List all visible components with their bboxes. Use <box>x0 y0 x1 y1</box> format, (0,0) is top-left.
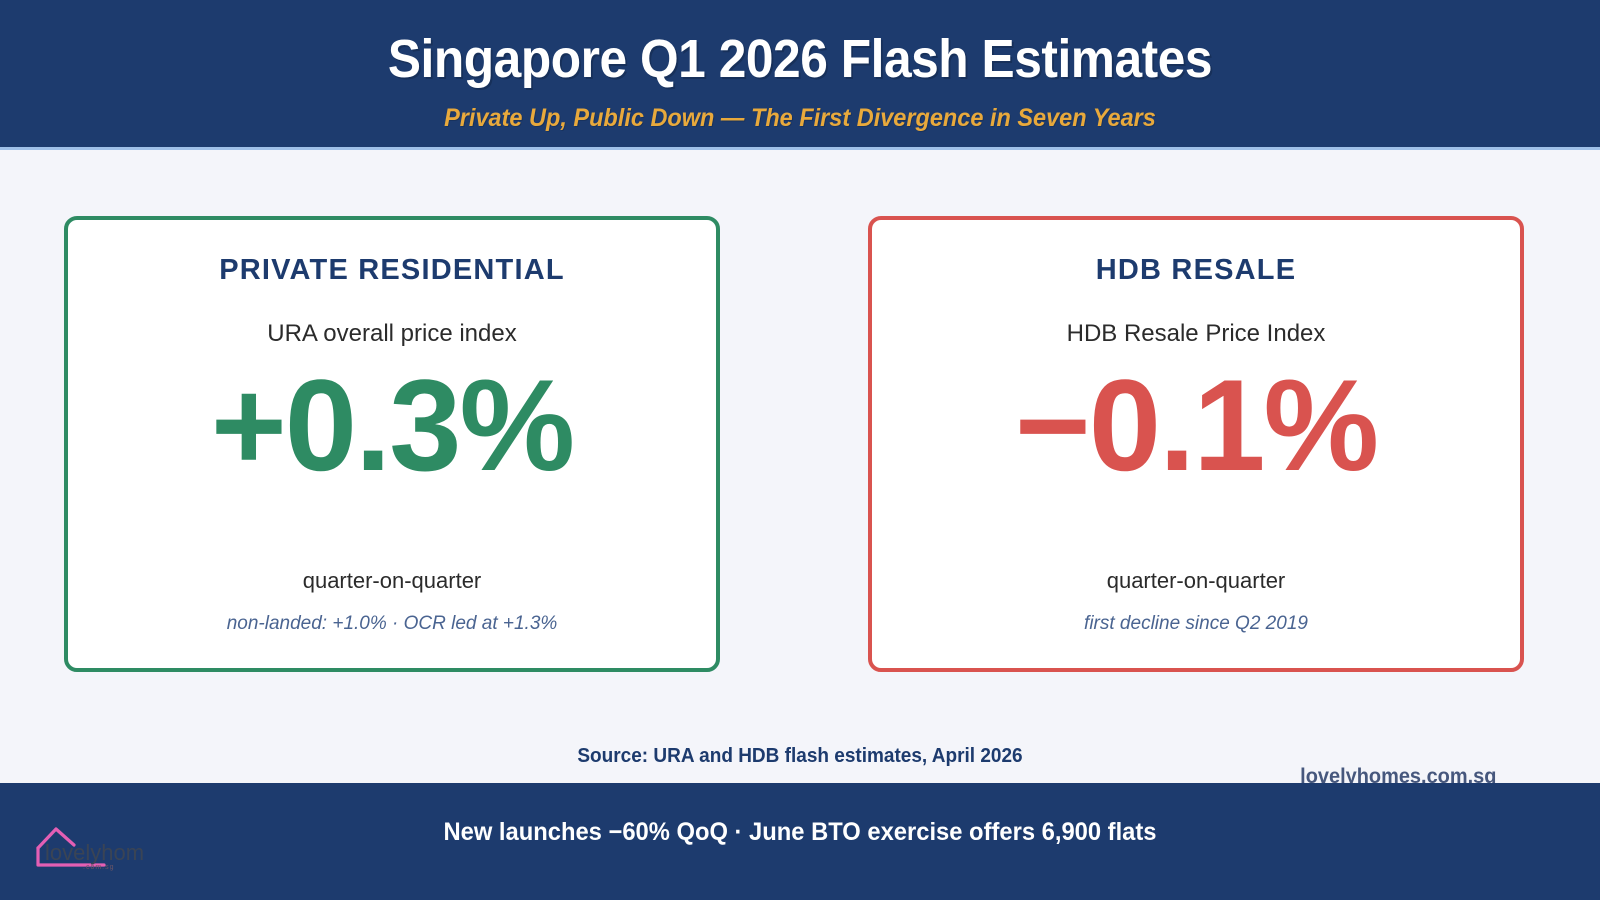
card-subtitle: HDB Resale Price Index <box>872 322 1520 346</box>
footer-highlights: New launches −60% QoQ · June BTO exercis… <box>40 820 1560 845</box>
metric-card-group: PRIVATE RESIDENTIAL URA overall price in… <box>0 216 1600 672</box>
logo-tagline: .com.sg <box>83 864 115 871</box>
card-headline-value: −0.1% <box>872 360 1520 490</box>
metric-card-hdb-resale: HDB RESALE HDB Resale Price Index −0.1% … <box>868 216 1524 672</box>
card-basis-label: quarter-on-quarter <box>872 570 1520 592</box>
page-subtitle: Private Up, Public Down — The First Dive… <box>48 106 1552 131</box>
metric-card-private-residential: PRIVATE RESIDENTIAL URA overall price in… <box>64 216 720 672</box>
card-footnote: first decline since Q2 2019 <box>872 614 1520 633</box>
source-attribution: Source: URA and HDB flash estimates, Apr… <box>40 746 1560 766</box>
card-basis-label: quarter-on-quarter <box>68 570 716 592</box>
card-headline-value: +0.3% <box>68 360 716 490</box>
card-subtitle: URA overall price index <box>68 322 716 346</box>
logo-wordmark: lovelyhomes <box>45 840 144 865</box>
page-title: Singapore Q1 2026 Flash Estimates <box>64 32 1536 86</box>
card-title: HDB RESALE <box>872 256 1520 285</box>
footer-banner: New launches −60% QoQ · June BTO exercis… <box>0 783 1600 900</box>
house-icon: lovelyhomes .com.sg <box>26 812 144 874</box>
card-footnote: non-landed: +1.0% · OCR led at +1.3% <box>68 614 716 633</box>
header-banner: Singapore Q1 2026 Flash Estimates Privat… <box>0 0 1600 150</box>
card-title: PRIVATE RESIDENTIAL <box>68 256 716 285</box>
lovelyhomes-logo: lovelyhomes .com.sg <box>26 812 144 874</box>
